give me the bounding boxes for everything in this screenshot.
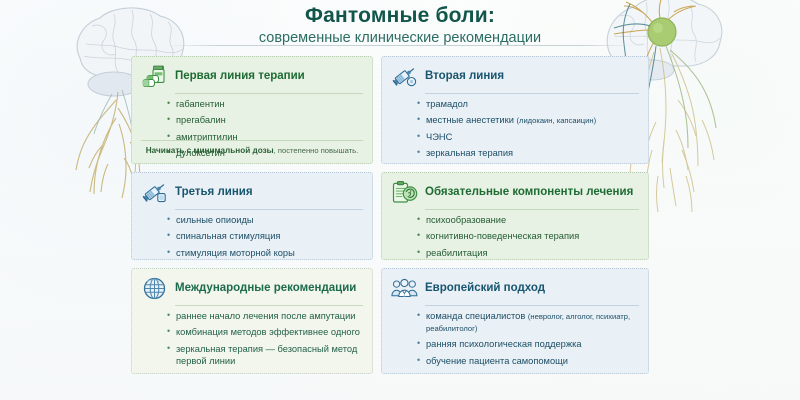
list-item: комбинация методов эффективнее одного <box>167 327 363 339</box>
list-item: команда специалистов (невролог, алголог,… <box>417 311 639 335</box>
bullet-text: когнитивно-поведенческая терапия <box>426 231 579 241</box>
bullet-list: раннее начало лечения после ампутации ко… <box>141 311 363 368</box>
list-item: ранняя психологическая поддержка <box>417 339 639 351</box>
bullet-text: реабилитация <box>426 248 488 258</box>
footnote-bold: Начинать с минимальной дозы <box>146 146 274 155</box>
card-header: Международные рекомендации <box>141 276 363 305</box>
list-item: обучение пациента самопомощи <box>417 356 639 368</box>
bullet-note: (лидокаин, капсаицин) <box>516 116 596 125</box>
header-rule <box>425 209 639 210</box>
page-title: Фантомные боли: <box>0 4 800 27</box>
card-european-approach[interactable]: Европейский подход команда специалистов … <box>381 268 649 374</box>
bullet-text: команда специалистов <box>426 311 528 321</box>
card-title: Международные рекомендации <box>175 282 356 295</box>
header-rule <box>425 305 639 306</box>
bullet-text: габапентин <box>176 99 225 109</box>
header-rule <box>425 93 639 94</box>
header-rule <box>175 305 363 306</box>
list-item: стимуляция моторной коры <box>167 248 363 260</box>
bullet-text: психообразование <box>426 215 506 225</box>
bullet-list: сильные опиоиды спинальная стимуляция ст… <box>141 215 363 260</box>
bullet-text: зеркальная терапия <box>426 148 513 158</box>
list-item: реабилитация <box>417 248 639 260</box>
bullet-text: раннее начало лечения после ампутации <box>176 311 356 321</box>
card-title: Первая линия терапии <box>175 70 305 83</box>
card-second-line[interactable]: Вторая линия трамадол местные анестетики… <box>381 56 649 164</box>
card-grid: Первая линия терапии габапентин прегабал… <box>131 56 649 374</box>
list-item: габапентин <box>167 99 363 111</box>
card-header: Европейский подход <box>391 276 639 305</box>
list-item: ЧЭНС <box>417 132 639 144</box>
clipboard-head-icon <box>391 180 418 205</box>
syringe-icon <box>141 180 168 205</box>
card-title: Вторая линия <box>425 70 504 83</box>
card-first-line-therapy[interactable]: Первая линия терапии габапентин прегабал… <box>131 56 373 164</box>
list-item: сильные опиоиды <box>167 215 363 227</box>
syringe-icon <box>391 64 418 89</box>
bullet-text: зеркальная терапия — безопасный метод пе… <box>176 344 357 366</box>
list-item: психообразование <box>417 215 639 227</box>
bullet-text: стимуляция моторной коры <box>176 248 295 258</box>
header-rule <box>175 209 363 210</box>
header: Фантомные боли: современные клинические … <box>0 4 800 47</box>
card-title: Третья линия <box>175 186 253 199</box>
card-mandatory-components[interactable]: Обязательные компоненты лечения психообр… <box>381 172 649 260</box>
team-of-people-icon <box>391 276 418 301</box>
list-item: когнитивно-поведенческая терапия <box>417 231 639 243</box>
list-item: зеркальная терапия — безопасный метод пе… <box>167 344 363 368</box>
bullet-text: спинальная стимуляция <box>176 231 280 241</box>
pill-bottle-icon <box>141 64 168 89</box>
footnote-rest: , постепенно повышать. <box>274 146 359 155</box>
list-item: трамадол <box>417 99 639 111</box>
footnote-rule <box>141 140 363 141</box>
card-header: Третья линия <box>141 180 363 209</box>
card-third-line[interactable]: Третья линия сильные опиоиды спинальная … <box>131 172 373 260</box>
card-title: Европейский подход <box>425 282 545 295</box>
footnote-area: Начинать с минимальной дозы, постепенно … <box>141 140 363 156</box>
list-item: местные анестетики (лидокаин, капсаицин) <box>417 115 639 127</box>
list-item: раннее начало лечения после ампутации <box>167 311 363 323</box>
card-header: Обязательные компоненты лечения <box>391 180 639 209</box>
list-item: спинальная стимуляция <box>167 231 363 243</box>
list-item: прегабалин <box>167 115 363 127</box>
list-item: зеркальная терапия <box>417 148 639 160</box>
card-international-recommendations[interactable]: Международные рекомендации раннее начало… <box>131 268 373 374</box>
footnote: Начинать с минимальной дозы, постепенно … <box>141 146 363 156</box>
bullet-list: трамадол местные анестетики (лидокаин, к… <box>391 99 639 160</box>
bullet-text: сильные опиоиды <box>176 215 254 225</box>
globe-icon <box>141 276 168 301</box>
bullet-text: обучение пациента самопомощи <box>426 356 568 366</box>
card-header: Вторая линия <box>391 64 639 93</box>
bullet-list: психообразование когнитивно-поведенческа… <box>391 215 639 260</box>
bullet-text: трамадол <box>426 99 468 109</box>
bullet-text: ЧЭНС <box>426 132 452 142</box>
bullet-list: команда специалистов (невролог, алголог,… <box>391 311 639 368</box>
header-divider <box>163 45 638 46</box>
bullet-text: комбинация методов эффективнее одного <box>176 327 360 337</box>
card-header: Первая линия терапии <box>141 64 363 93</box>
bullet-text: прегабалин <box>176 115 226 125</box>
bullet-text: ранняя психологическая поддержка <box>426 339 582 349</box>
card-title: Обязательные компоненты лечения <box>425 186 633 199</box>
bullet-text: местные анестетики <box>426 115 516 125</box>
header-rule <box>175 93 363 94</box>
